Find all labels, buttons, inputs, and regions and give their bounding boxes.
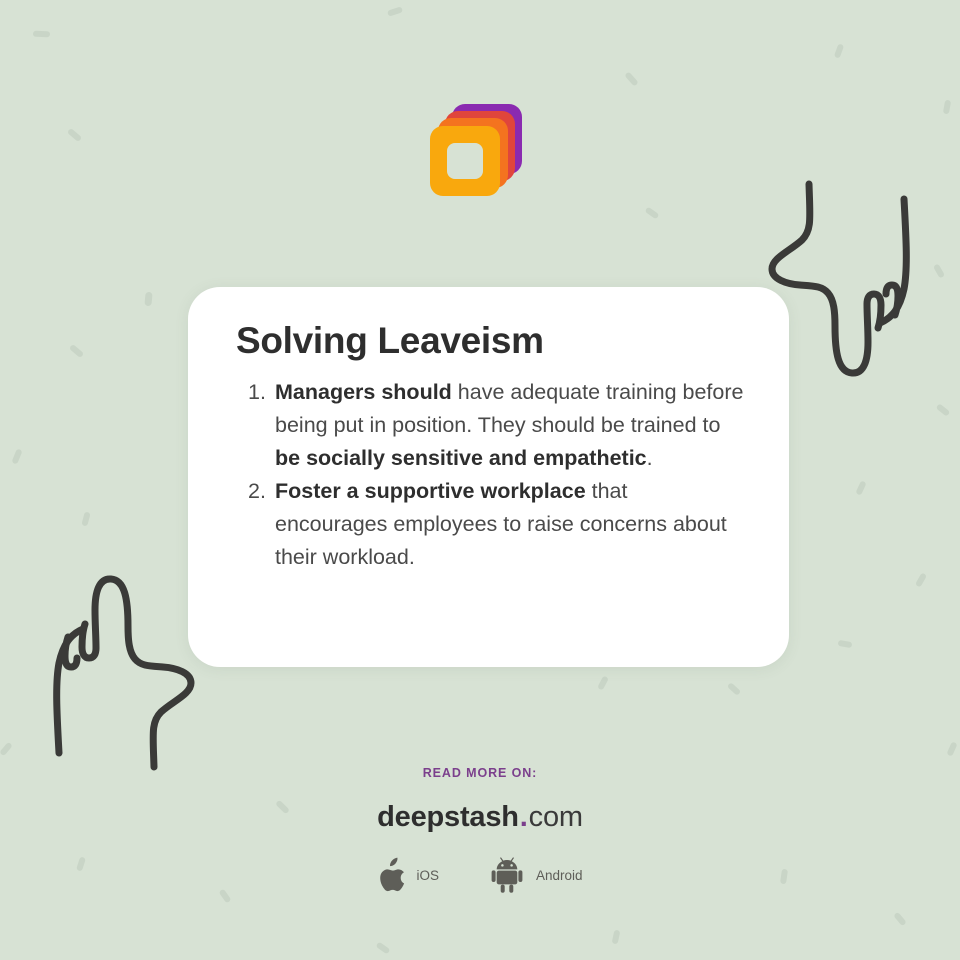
confetti-dash bbox=[943, 100, 951, 115]
confetti-dash bbox=[645, 207, 660, 220]
content-card: Solving Leaveism Managers should have ad… bbox=[188, 287, 789, 667]
deepstash-wordmark[interactable]: deepstash.com bbox=[0, 803, 960, 832]
confetti-dash bbox=[597, 675, 609, 690]
confetti-dash bbox=[834, 43, 844, 58]
confetti-dash bbox=[936, 403, 951, 416]
confetti-dash bbox=[915, 572, 927, 587]
tip-emphasis: Managers should bbox=[275, 380, 452, 404]
confetti-dash bbox=[81, 511, 90, 526]
page-title: Solving Leaveism bbox=[236, 321, 745, 362]
tip-list-item: Managers should have adequate training b… bbox=[275, 376, 745, 475]
tip-list-item: Foster a supportive workplace that encou… bbox=[275, 475, 745, 574]
tip-text: . bbox=[647, 446, 653, 470]
tip-emphasis: be socially sensitive and empathetic bbox=[275, 446, 647, 470]
confetti-dash bbox=[893, 912, 907, 927]
confetti-dash bbox=[33, 31, 50, 38]
wordmark-name: deepstash bbox=[377, 801, 519, 833]
confetti-dash bbox=[855, 480, 866, 495]
tip-emphasis: Foster a supportive workplace bbox=[275, 479, 586, 503]
footer: READ MORE ON: deepstash.com iOS bbox=[0, 766, 960, 893]
confetti-dash bbox=[612, 930, 621, 945]
store-badges: iOS bbox=[0, 857, 960, 893]
wordmark-tld: com bbox=[529, 801, 583, 833]
deepstash-logo bbox=[430, 104, 522, 196]
wordmark-dot: . bbox=[519, 801, 529, 833]
confetti-dash bbox=[69, 344, 84, 358]
confetti-dash bbox=[946, 741, 957, 756]
android-icon bbox=[491, 857, 527, 893]
confetti-dash bbox=[11, 448, 22, 464]
confetti-dash bbox=[144, 292, 152, 307]
pointing-hand-bottom-left-icon bbox=[28, 562, 206, 782]
android-store-badge[interactable]: Android bbox=[491, 857, 583, 893]
confetti-dash bbox=[933, 263, 945, 278]
logo-center-cutout bbox=[447, 143, 483, 179]
confetti-dash bbox=[727, 682, 741, 696]
confetti-dash bbox=[67, 128, 82, 142]
ios-badge-label: iOS bbox=[416, 868, 439, 883]
confetti-dash bbox=[624, 71, 638, 86]
android-badge-label: Android bbox=[536, 868, 583, 883]
read-more-label: READ MORE ON: bbox=[0, 766, 960, 780]
ios-store-badge[interactable]: iOS bbox=[377, 857, 439, 893]
apple-icon bbox=[377, 857, 407, 893]
poster-canvas: Solving Leaveism Managers should have ad… bbox=[0, 0, 960, 960]
tips-list: Managers should have adequate training b… bbox=[236, 376, 745, 574]
confetti-dash bbox=[838, 640, 853, 648]
confetti-dash bbox=[387, 6, 403, 16]
confetti-dash bbox=[376, 942, 391, 955]
confetti-dash bbox=[0, 742, 13, 757]
